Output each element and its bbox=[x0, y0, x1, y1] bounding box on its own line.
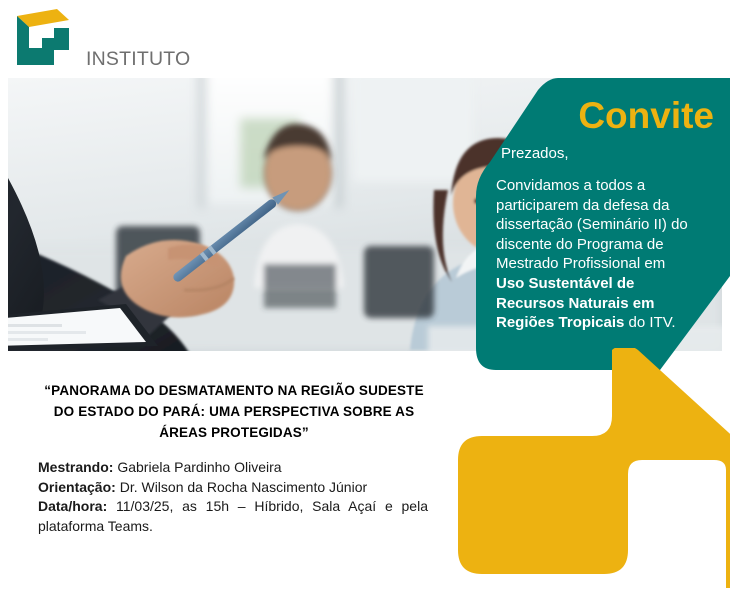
logo-line-1: INSTITUTO bbox=[86, 49, 232, 70]
detail-row-mestrando: Mestrando: Gabriela Pardinho Oliveira bbox=[38, 458, 428, 478]
thesis-title: “PANORAMA DO DESMATAMENTO NA REGIÃO SUDE… bbox=[38, 380, 430, 443]
mestrando-value: Gabriela Pardinho Oliveira bbox=[113, 459, 281, 475]
orientacao-label: Orientação: bbox=[38, 479, 116, 495]
invite-greeting: Prezados, bbox=[501, 144, 569, 164]
invite-panel-content: Convite Prezados, Convidamos a todos a p… bbox=[462, 78, 730, 370]
mestrando-label: Mestrando: bbox=[38, 459, 113, 475]
itv-logo-mark-icon bbox=[14, 6, 72, 68]
invite-body-part2: do ITV. bbox=[624, 314, 675, 331]
invite-title: Convite bbox=[578, 96, 714, 136]
gold-decorative-mark-icon bbox=[452, 348, 730, 588]
detail-row-orientacao: Orientação: Dr. Wilson da Rocha Nascimen… bbox=[38, 478, 428, 498]
invite-body: Convidamos a todos a participarem da def… bbox=[496, 176, 692, 333]
datahora-label: Data/hora: bbox=[38, 498, 107, 514]
invite-body-part1: Convidamos a todos a participarem da def… bbox=[496, 177, 688, 272]
defense-details: Mestrando: Gabriela Pardinho Oliveira Or… bbox=[38, 458, 428, 536]
orientacao-value: Dr. Wilson da Rocha Nascimento Júnior bbox=[116, 479, 367, 495]
invite-panel: Convite Prezados, Convidamos a todos a p… bbox=[462, 78, 730, 370]
invitation-poster: INSTITUTO TECNOLÓGICO VALE bbox=[0, 0, 730, 589]
detail-row-datahora: Data/hora: 11/03/25, as 15h – Híbrido, S… bbox=[38, 497, 428, 536]
